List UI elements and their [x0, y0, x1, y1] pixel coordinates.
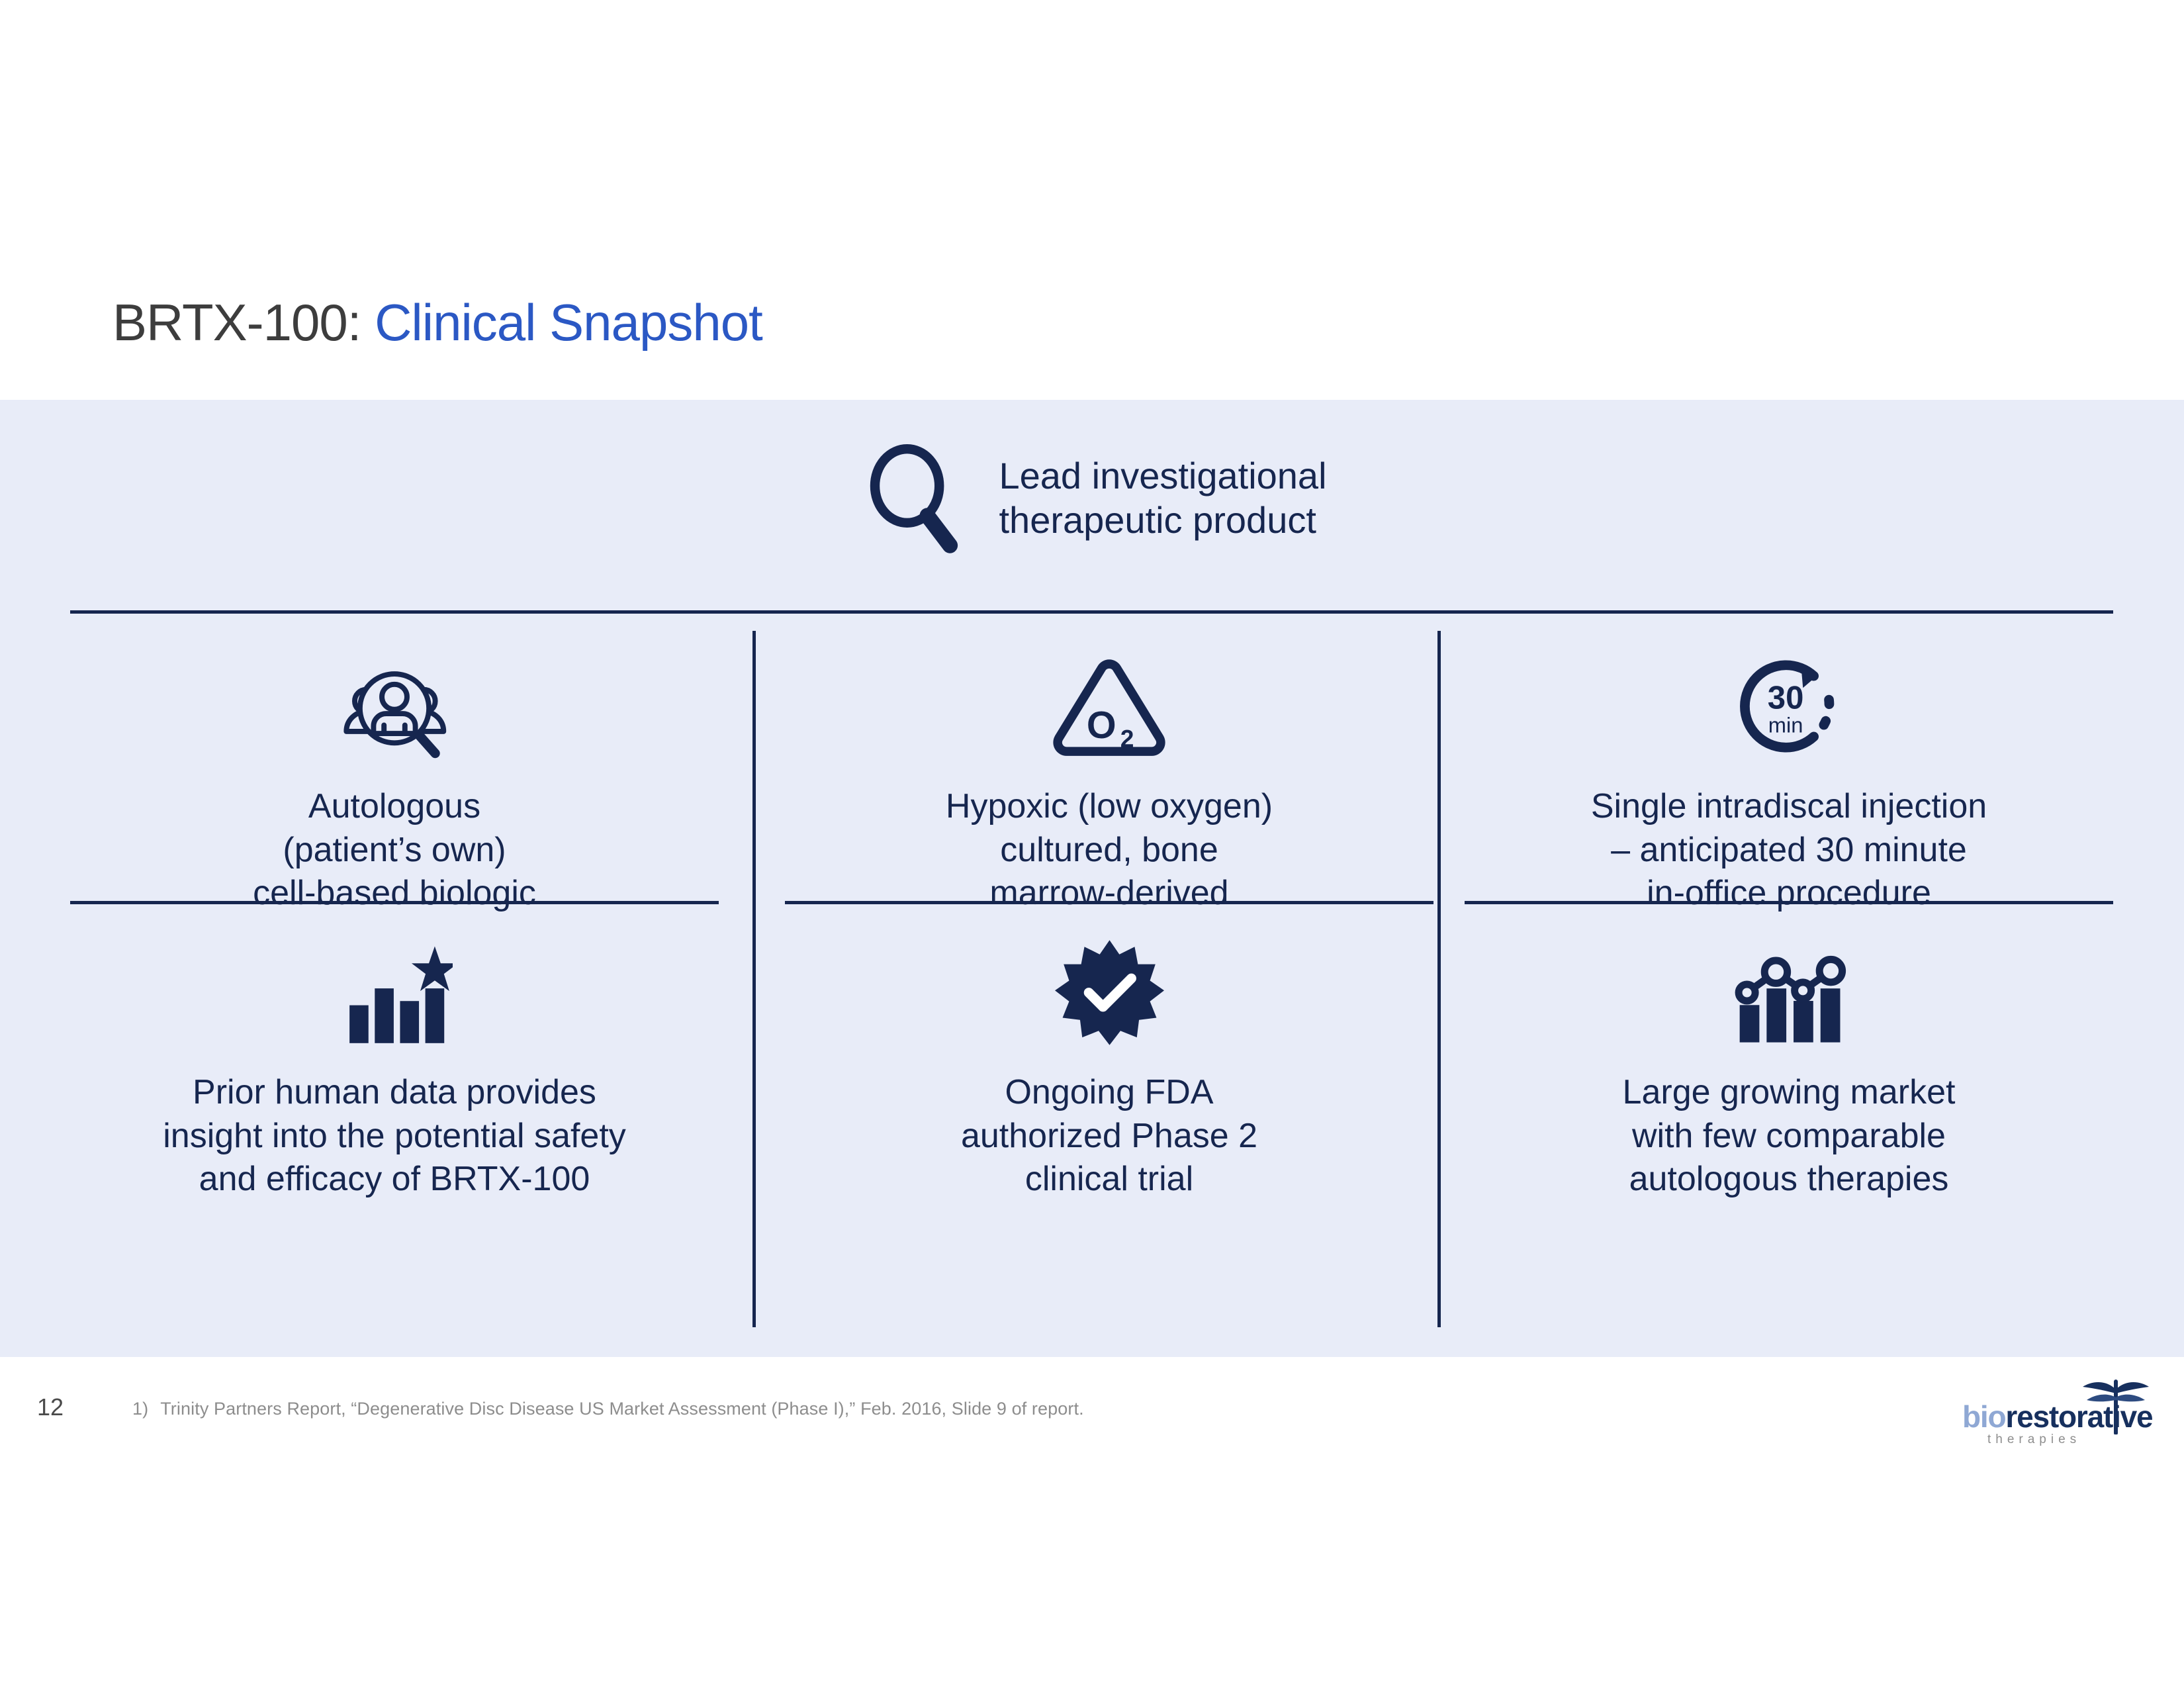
feature-cell-fda-trial: Ongoing FDA authorized Phase 2 clinical …	[785, 929, 1433, 1201]
thirty-minute-timer-icon: 30 min	[1729, 643, 1848, 769]
feature-label-hypoxic: Hypoxic (low oxygen) cultured, bone marr…	[946, 785, 1273, 915]
oxygen-triangle-icon: O 2	[1048, 643, 1171, 769]
divider-vertical-right	[1437, 631, 1441, 1327]
feature-cell-injection: 30 min Single intradiscal injection – an…	[1465, 643, 2113, 915]
magnifier-icon	[857, 438, 976, 557]
company-logo: biorestorative therapies	[1962, 1380, 2154, 1453]
footnote-text: Trinity Partners Report, “Degenerative D…	[160, 1399, 1083, 1419]
page-title: BRTX-100: Clinical Snapshot	[113, 297, 762, 348]
bar-line-chart-icon	[1729, 929, 1848, 1055]
feature-label-injection: Single intradiscal injection – anticipat…	[1591, 785, 1987, 915]
content-panel: Lead investigational therapeutic product	[0, 400, 2184, 1357]
logo-tagline: therapies	[1987, 1432, 2081, 1447]
feature-label-fda-trial: Ongoing FDA authorized Phase 2 clinical …	[961, 1071, 1257, 1201]
divider-vertical-left	[752, 631, 756, 1327]
lead-product-row: Lead investigational therapeutic product	[0, 438, 2184, 557]
bar-chart-star-icon	[337, 929, 453, 1055]
lead-product-label: Lead investigational therapeutic product	[999, 453, 1326, 542]
feature-cell-autologous: Autologous (patient’s own) cell-based bi…	[70, 643, 719, 915]
logo-word-restorative: restorative	[2005, 1399, 2152, 1434]
footnote: 1)Trinity Partners Report, “Degenerative…	[132, 1399, 1084, 1419]
feature-cell-market: Large growing market with few comparable…	[1465, 929, 2113, 1201]
logo-word-bio: bio	[1962, 1399, 2005, 1434]
timer-value-text: 30	[1768, 680, 1804, 716]
feature-cell-hypoxic: O 2 Hypoxic (low oxygen) cultured, bone …	[785, 643, 1433, 915]
people-magnifier-icon	[332, 643, 457, 769]
verified-badge-icon	[1055, 929, 1164, 1055]
timer-unit-text: min	[1768, 712, 1803, 737]
logo-wordmark: biorestorative	[1962, 1399, 2152, 1434]
page-title-prefix: BRTX-100:	[113, 293, 361, 352]
feature-label-market: Large growing market with few comparable…	[1623, 1071, 1956, 1201]
page-number: 12	[37, 1393, 64, 1421]
page-title-accent: Clinical Snapshot	[361, 293, 762, 352]
svg-text:2: 2	[1120, 724, 1134, 752]
divider-top	[70, 610, 2113, 614]
feature-cell-prior-data: Prior human data provides insight into t…	[70, 929, 719, 1201]
feature-label-autologous: Autologous (patient’s own) cell-based bi…	[253, 785, 536, 915]
svg-text:O: O	[1087, 704, 1116, 746]
footnote-marker: 1)	[132, 1399, 148, 1419]
feature-label-prior-data: Prior human data provides insight into t…	[163, 1071, 626, 1201]
